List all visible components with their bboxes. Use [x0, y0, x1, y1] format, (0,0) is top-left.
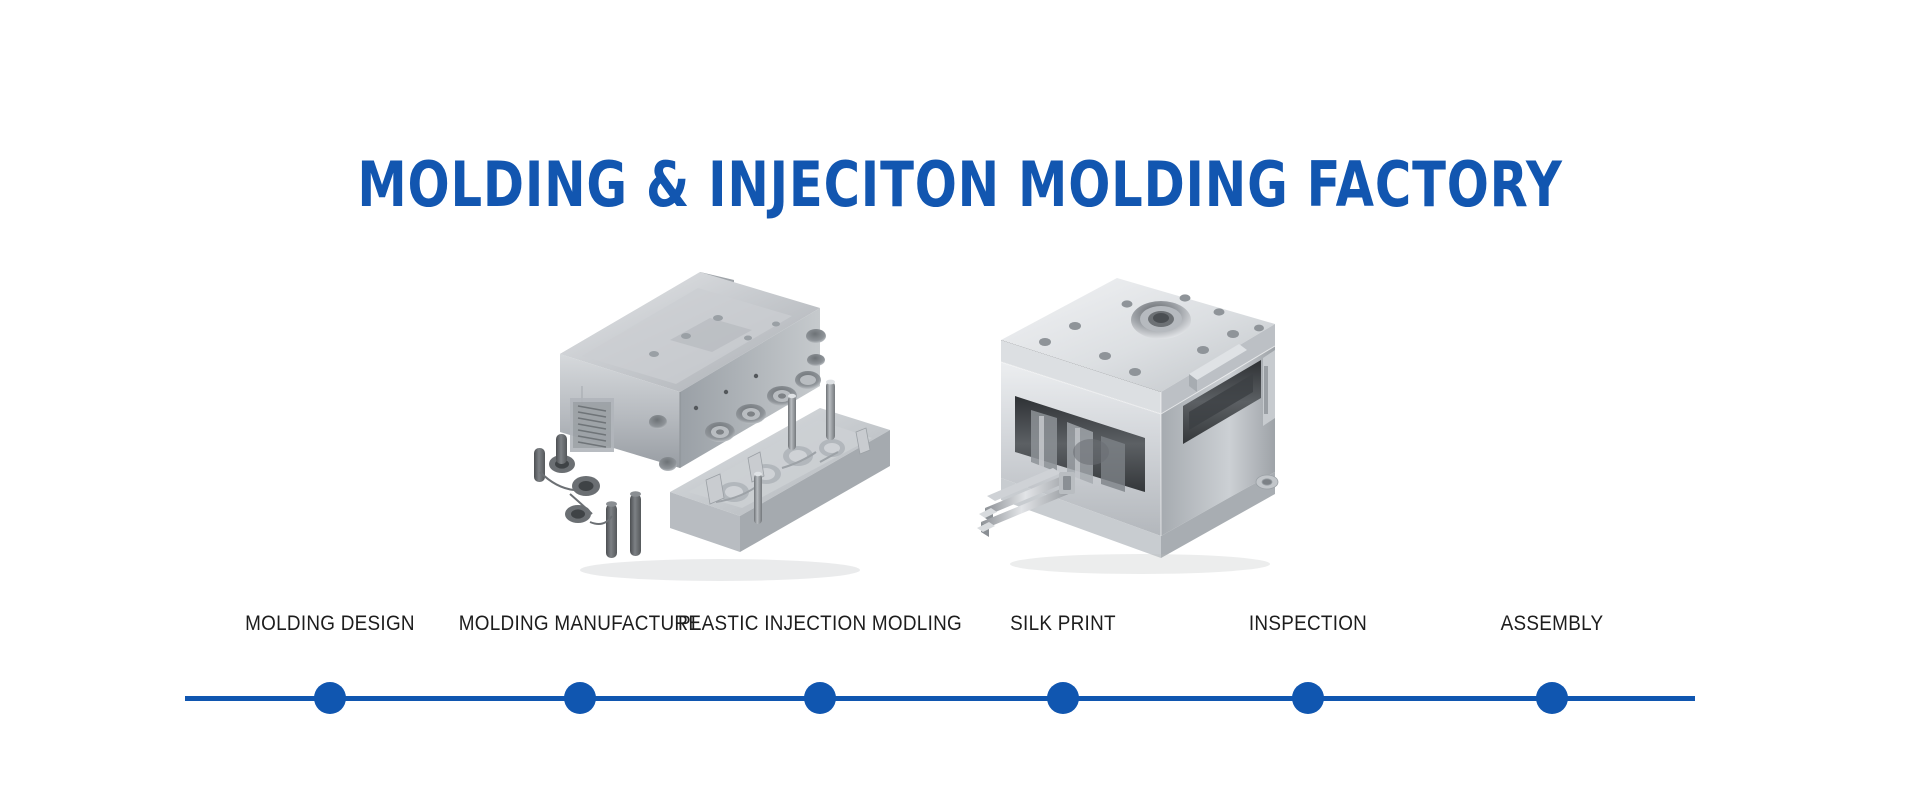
timeline-dot-icon[interactable] [564, 682, 596, 714]
timeline-dot-icon[interactable] [804, 682, 836, 714]
timeline-dot-icon[interactable] [1536, 682, 1568, 714]
assembled-mold-base-render [975, 246, 1305, 576]
timeline-step-label: PLASTIC INJECTION MODLING [678, 612, 962, 636]
timeline-step-label: INSPECTION [1249, 612, 1367, 636]
timeline-step-label: ASSEMBLY [1501, 612, 1604, 636]
timeline-step-label: MOLDING MANUFACTURE [459, 612, 701, 636]
timeline-step-label: SILK PRINT [1010, 612, 1116, 636]
product-gallery [0, 236, 1920, 596]
timeline-track [185, 696, 1695, 701]
timeline-dot-icon[interactable] [314, 682, 346, 714]
page-root: MOLDING & INJECITON MOLDING FACTORY [0, 0, 1920, 800]
exploded-injection-mold-render [520, 236, 900, 586]
timeline-step-label: MOLDING DESIGN [245, 612, 415, 636]
page-title: MOLDING & INJECITON MOLDING FACTORY [192, 152, 1728, 217]
timeline-dot-icon[interactable] [1292, 682, 1324, 714]
process-timeline: MOLDING DESIGN MOLDING MANUFACTURE PLAST… [0, 612, 1920, 732]
timeline-dot-icon[interactable] [1047, 682, 1079, 714]
